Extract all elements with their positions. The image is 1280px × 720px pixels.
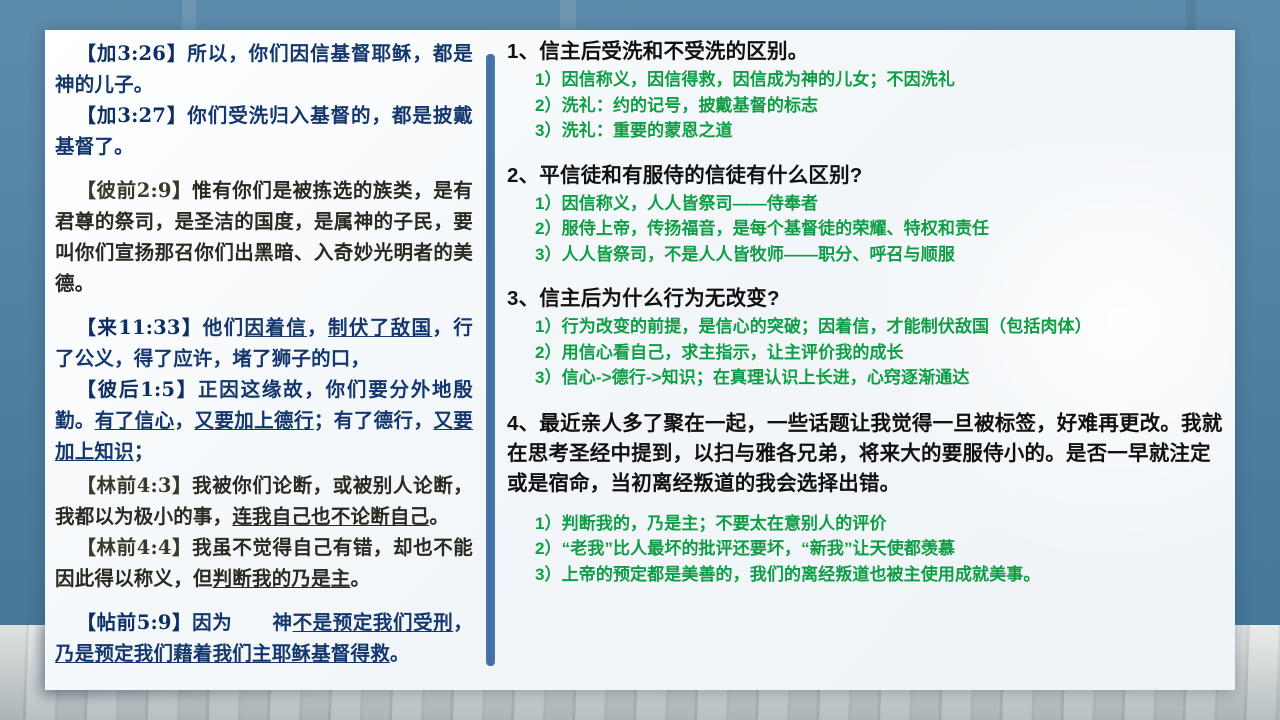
verse-underlined: 连我自己也不论断自己: [232, 505, 429, 528]
list-item: 2）“老我”比人最坏的批评还要坏，“新我”让天使都羡慕: [535, 536, 1225, 562]
verse-reference: 【加3:27】: [76, 104, 187, 127]
verse-underlined: 又要加上德行: [194, 409, 313, 432]
verse-reference: 【来11:33】: [76, 316, 202, 339]
list-item: 3）上帝的预定都是美善的，我们的离经叛道也被主使用成就美事。: [535, 562, 1225, 588]
verse-reference: 【彼后1:5】: [76, 378, 198, 401]
bible-verse-column: 【加3:26】所以，你们因信基督耶稣，都是 神的儿子。 【加3:27】你们受洗归…: [49, 34, 479, 684]
verse-reference: 【加3:26】: [76, 42, 187, 65]
list-item: 3）洗礼：重要的蒙恩之道: [535, 118, 1225, 144]
list-item: 1）因信称义，人人皆祭司——侍奉者: [535, 191, 1225, 217]
verse-reference: 【帖前5:9】: [76, 611, 192, 634]
list-item: 3）人人皆祭司，不是人人皆牧师——职分、呼召与顺服: [535, 242, 1225, 268]
column-divider: [486, 54, 495, 666]
verse-text: 他们: [203, 316, 245, 339]
verse-text: ，: [174, 409, 194, 432]
section-heading: 3、信主后为什么行为无改变?: [507, 285, 1225, 312]
verse-paragraph: 【帖前5:9】因为 神不是预定我们受刑，乃是预定我们藉着我们主耶稣基督得救。: [55, 607, 473, 669]
list-item: 2）洗礼：约的记号，披戴基督的标志: [535, 93, 1225, 119]
verse-reference: 【林前4:4】: [76, 536, 192, 559]
outline-section: 3、信主后为什么行为无改变? 1）行为改变的前提，是信心的突破；因着信，才能制伏…: [507, 285, 1225, 391]
slide-card: 【加3:26】所以，你们因信基督耶稣，都是 神的儿子。 【加3:27】你们受洗归…: [45, 30, 1235, 690]
verse-underlined: 不是预定我们受刑: [293, 611, 454, 634]
verse-text: ；有了德行，: [314, 409, 433, 432]
verse-underlined: 乃是预定我们藉着我们主耶稣基督得救: [55, 642, 390, 665]
verse-reference: 【林前4:3】: [76, 474, 192, 497]
section-items: 1）因信称义，人人皆祭司——侍奉者 2）服侍上帝，传扬福音，是每个基督徒的荣耀、…: [535, 191, 1225, 268]
list-item: 2）服侍上帝，传扬福音，是每个基督徒的荣耀、特权和责任: [535, 216, 1225, 242]
verse-paragraph: 【彼后1:5】正因这缘故，你们要分外地殷勤。有了信心，又要加上德行；有了德行，又…: [55, 374, 473, 467]
verse-paragraph: 【加3:26】所以，你们因信基督耶稣，都是 神的儿子。: [55, 38, 473, 100]
verse-text: ，: [307, 316, 328, 339]
verse-text: 。: [429, 505, 449, 528]
section-items: 1）行为改变的前提，是信心的突破；因着信，才能制伏敌国（包括肉体） 2）用信心看…: [535, 314, 1225, 391]
list-item: 2）用信心看自己，求主指示，让主评价我的成长: [535, 340, 1225, 366]
section-heading: 2、平信徒和有服侍的信徒有什么区别?: [507, 162, 1225, 189]
outline-column: 1、信主后受洗和不受洗的区别。 1）因信称义，因信得救，因信成为神的儿女；不因洗…: [507, 36, 1225, 684]
verse-underlined: 有了信心: [95, 409, 175, 432]
slide-screenshot: 【加3:26】所以，你们因信基督耶稣，都是 神的儿子。 【加3:27】你们受洗归…: [0, 0, 1280, 720]
outline-section: 4、最近亲人多了聚在一起，一些话题让我觉得一旦被标签，好难再更改。我就在思考圣经…: [507, 409, 1225, 588]
outline-section: 1、信主后受洗和不受洗的区别。 1）因信称义，因信得救，因信成为神的儿女；不因洗…: [507, 38, 1225, 144]
verse-paragraph: 【加3:27】你们受洗归入基督的，都是披戴基督了。: [55, 100, 473, 162]
verse-paragraph: 【林前4:4】我虽不觉得自己有错，却也不能因此得以称义，但判断我的乃是主。: [55, 532, 473, 594]
verse-text: ；: [134, 440, 154, 463]
section-heading: 4、最近亲人多了聚在一起，一些话题让我觉得一旦被标签，好难再更改。我就在思考圣经…: [507, 409, 1225, 499]
verse-text: 因为 神: [192, 611, 292, 634]
verse-reference: 【彼前2:9】: [76, 179, 192, 202]
verse-text: 。: [351, 567, 371, 590]
outline-section: 2、平信徒和有服侍的信徒有什么区别? 1）因信称义，人人皆祭司——侍奉者 2）服…: [507, 162, 1225, 268]
verse-underlined: 判断我的乃是主: [213, 567, 351, 590]
list-item: 1）判断我的，乃是主；不要太在意别人的评价: [535, 511, 1225, 537]
verse-paragraph: 【来11:33】他们因着信，制伏了敌国，行了公义，得了应许，堵了狮子的口，: [55, 312, 473, 374]
section-items: 1）判断我的，乃是主；不要太在意别人的评价 2）“老我”比人最坏的批评还要坏，“…: [535, 511, 1225, 588]
verse-underlined: 因着信: [245, 316, 308, 339]
verse-paragraph: 【林前4:3】我被你们论断，或被别人论断，我都以为极小的事，连我自己也不论断自己…: [55, 470, 473, 532]
list-item: 3）信心->德行->知识；在真理认识上长进，心窍逐渐通达: [535, 365, 1225, 391]
section-items: 1）因信称义，因信得救，因信成为神的儿女；不因洗礼 2）洗礼：约的记号，披戴基督…: [535, 67, 1225, 144]
verse-paragraph: 【彼前2:9】惟有你们是被拣选的族类，是有君尊的祭司，是圣洁的国度，是属神的子民…: [55, 175, 473, 299]
list-item: 1）行为改变的前提，是信心的突破；因着信，才能制伏敌国（包括肉体）: [535, 314, 1225, 340]
verse-text: 。: [390, 642, 410, 665]
section-heading: 1、信主后受洗和不受洗的区别。: [507, 38, 1225, 65]
list-item: 1）因信称义，因信得救，因信成为神的儿女；不因洗礼: [535, 67, 1225, 93]
verse-underlined: 制伏了敌国: [328, 316, 432, 339]
verse-text: ，: [453, 611, 473, 634]
